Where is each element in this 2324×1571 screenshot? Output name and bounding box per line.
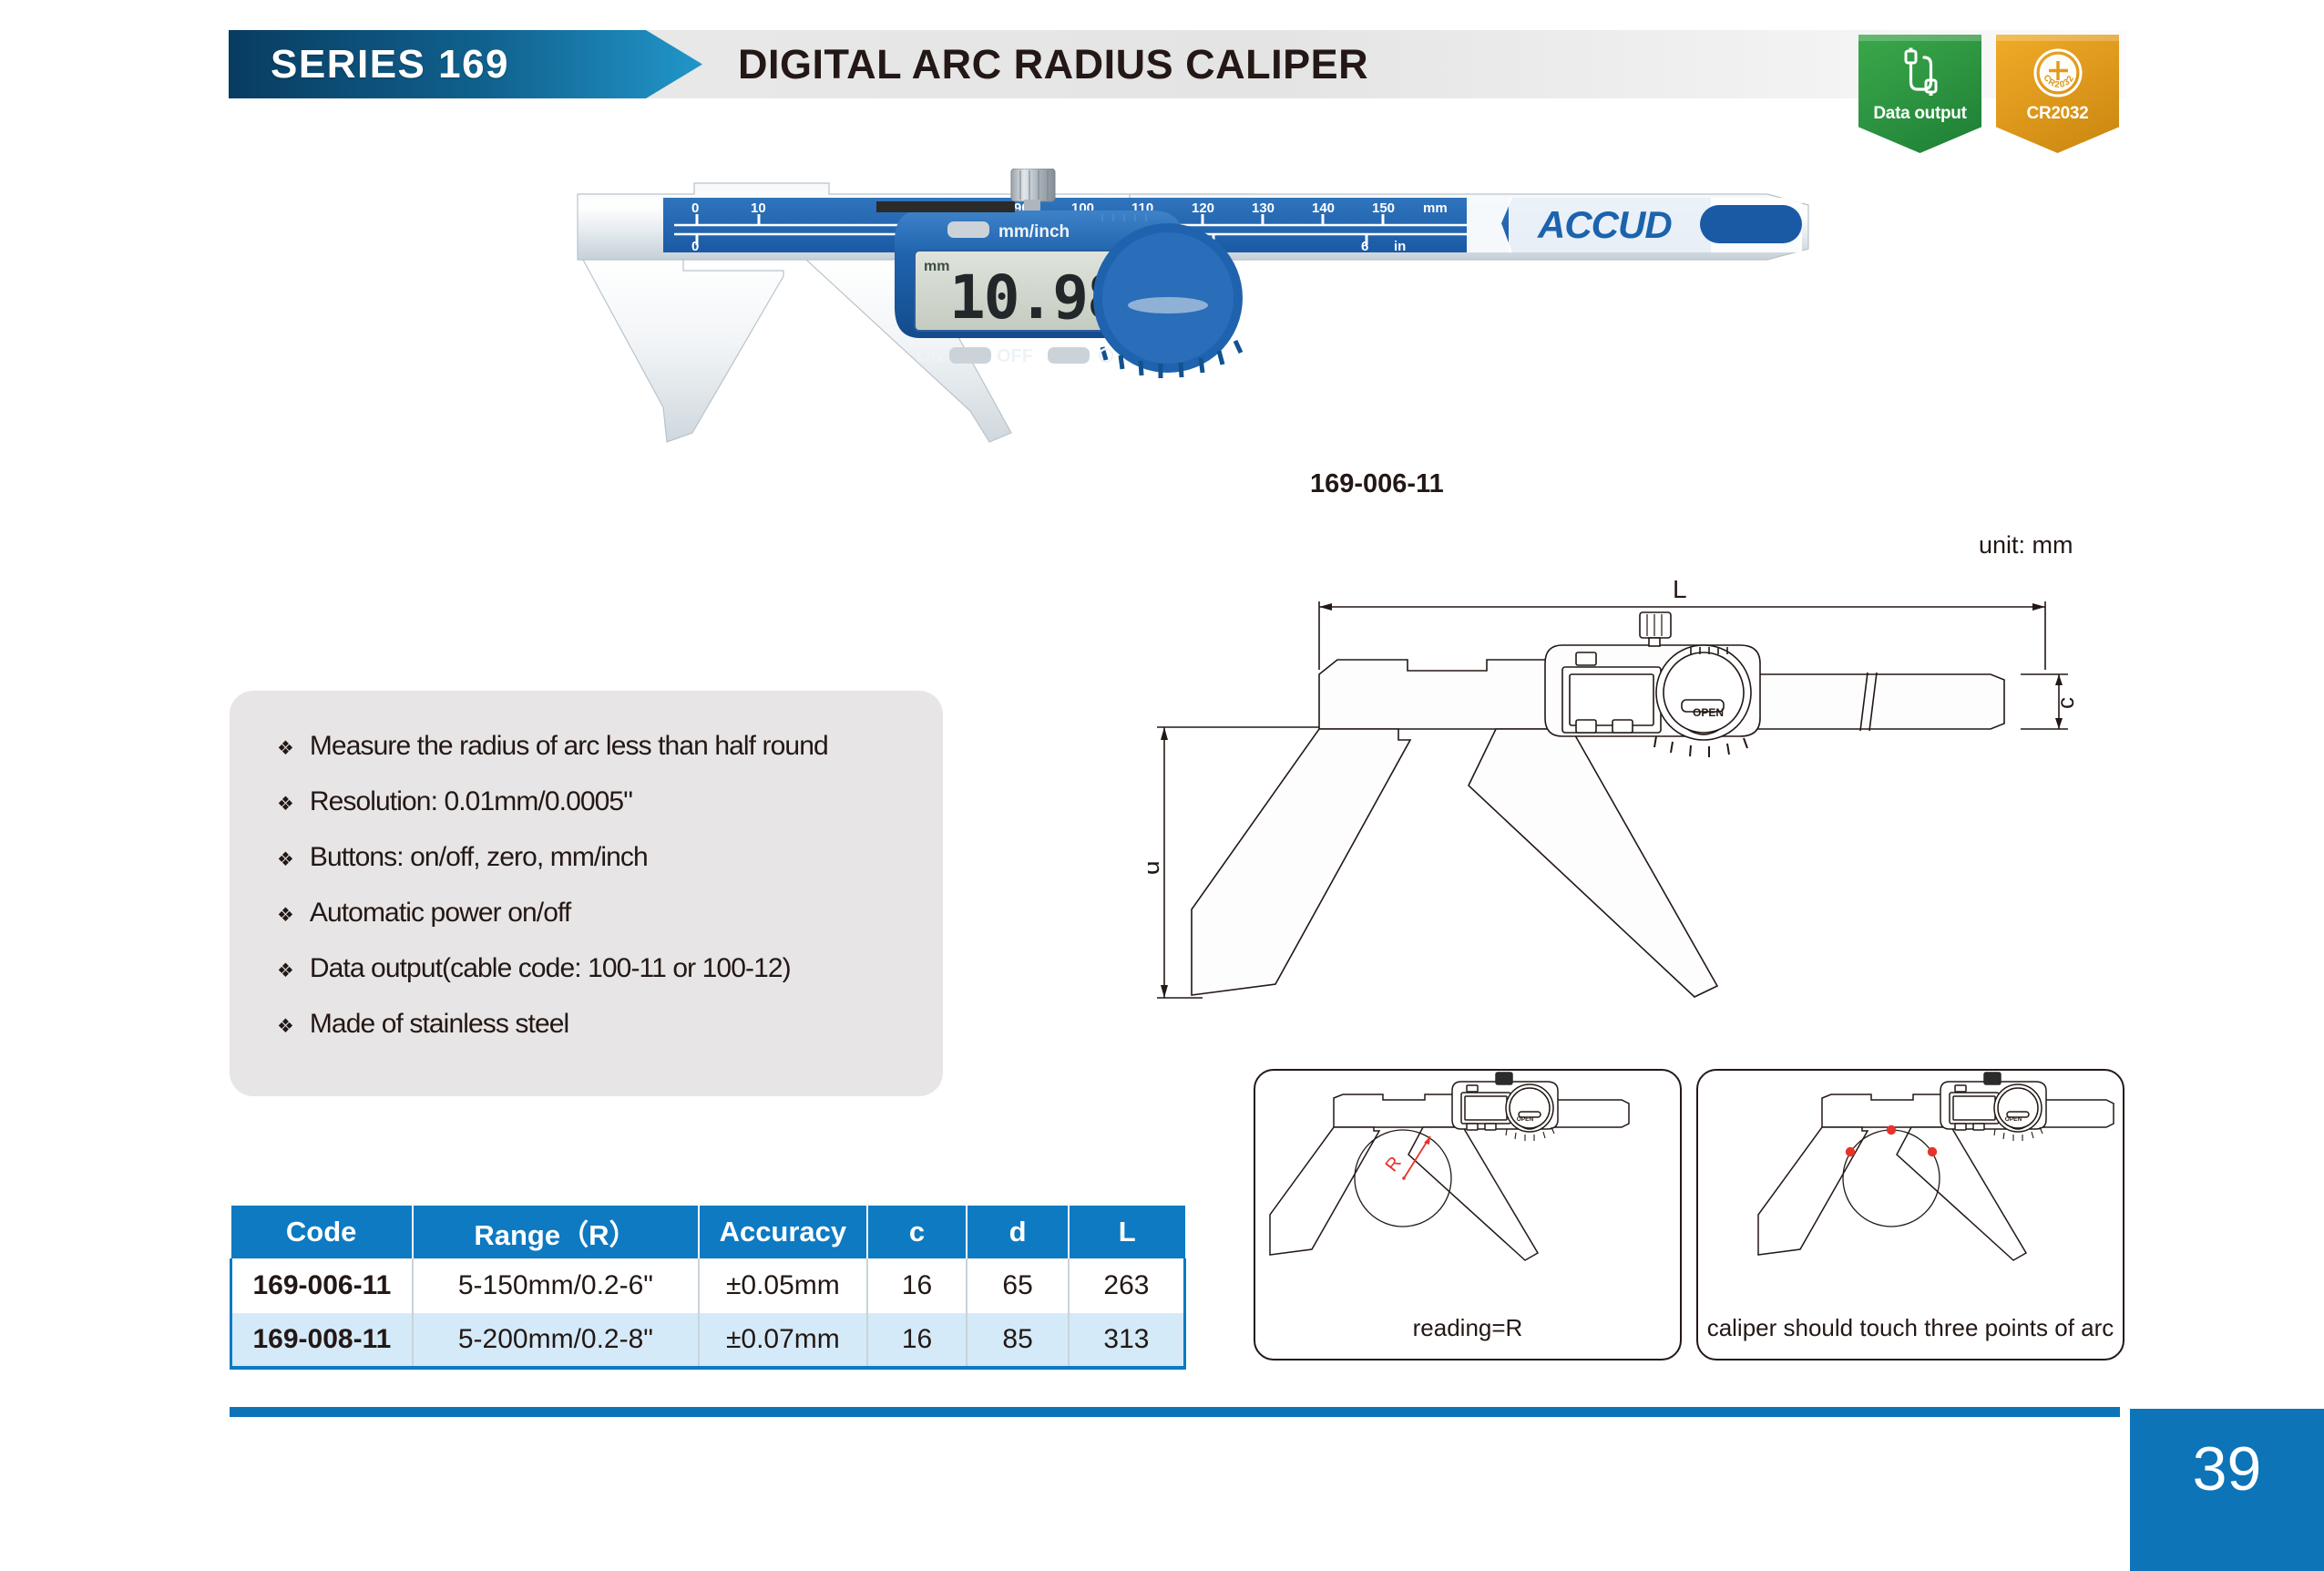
cell-l: 313 [1069,1313,1185,1368]
diamond-bullet-icon: ❖ [277,850,294,869]
svg-text:mm/inch: mm/inch [998,222,1070,241]
coin-battery-icon: CR2032 [2031,46,2085,102]
svg-text:130: 130 [1252,200,1275,216]
technical-drawing: OPEN L c d [1148,547,2132,1021]
feature-item: ❖ Measure the radius of arc less than ha… [277,731,943,762]
badge-data-output: Data output [1858,35,1981,153]
table-header-row: Code Range（R） Accuracy c d L [231,1206,1185,1258]
product-code-label: 169-006-11 [1310,469,1444,499]
example-caption: reading=R [1255,1314,1680,1342]
table-row[interactable]: 169-008-11 5-200mm/0.2-8" ±0.07mm 16 85 … [231,1313,1185,1368]
example-three-points: OPEN caliper should touch three points o… [1696,1069,2124,1361]
example-reading-r: OPEN R reading=R [1254,1069,1682,1361]
series-label: SERIES 169 [229,42,509,87]
svg-text:6: 6 [1361,239,1368,254]
dimension-label-d: d [1148,860,1164,875]
cell-c: 16 [867,1258,967,1313]
feature-item: ❖ Made of stainless steel [277,1009,943,1040]
specification-table: Code Range（R） Accuracy c d L 169-006-11 … [230,1206,1186,1370]
features-panel: ❖ Measure the radius of arc less than ha… [230,691,943,1096]
cell-c: 16 [867,1313,967,1368]
badge-label: Data output [1873,104,1966,124]
column-header-d: d [967,1206,1069,1258]
svg-text:0: 0 [691,239,699,254]
table-row[interactable]: 169-006-11 5-150mm/0.2-6" ±0.05mm 16 65 … [231,1258,1185,1313]
page-number-box: 39 [2130,1409,2324,1571]
badge-top-strip [1858,35,1981,41]
cell-d: 65 [967,1258,1069,1313]
column-header-code: Code [231,1206,413,1258]
svg-text:140: 140 [1312,200,1335,216]
svg-text:ON: ON [916,346,944,366]
badge-label: CR2032 [2027,104,2089,124]
footer-divider [230,1407,2120,1417]
feature-text: Buttons: on/off, zero, mm/inch [310,842,648,873]
cell-code: 169-008-11 [231,1313,413,1368]
cell-d: 85 [967,1313,1069,1368]
svg-text:ACCUD: ACCUD [1537,203,1672,246]
series-tag: SERIES 169 [229,30,702,98]
svg-text:OPEN: OPEN [2005,1116,2022,1123]
dimension-label-c: c [2052,697,2079,709]
svg-text:in: in [1394,239,1406,254]
dimension-label-L: L [1673,575,1687,603]
feature-badges: Data output CR2032 CR2032 [1858,35,2119,153]
feature-item: ❖ Data output(cable code: 100-11 or 100-… [277,953,943,984]
diamond-bullet-icon: ❖ [277,739,294,758]
svg-text:120: 120 [1192,200,1214,216]
diamond-bullet-icon: ❖ [277,1017,294,1036]
page-number: 39 [2193,1433,2262,1546]
page-title: DIGITAL ARC RADIUS CALIPER [738,30,1368,98]
cell-accuracy: ±0.07mm [699,1313,867,1368]
feature-item: ❖ Automatic power on/off [277,898,943,929]
usage-examples: OPEN R reading=R [1254,1069,2124,1361]
catalog-page: SERIES 169 DIGITAL ARC RADIUS CALIPER Da… [0,0,2324,1571]
svg-text:OPEN: OPEN [1517,1116,1534,1123]
svg-text:mm: mm [1423,200,1448,216]
svg-text:mm: mm [924,259,949,274]
svg-text:0: 0 [691,200,699,216]
cell-accuracy: ±0.05mm [699,1258,867,1313]
badge-battery: CR2032 CR2032 [1996,35,2119,153]
feature-text: Data output(cable code: 100-11 or 100-12… [310,953,791,984]
example-caption: caliper should touch three points of arc [1698,1314,2123,1342]
svg-text:OFF: OFF [997,346,1033,366]
usb-cable-icon [1893,46,1948,102]
feature-text: Made of stainless steel [310,1009,568,1040]
cell-range: 5-150mm/0.2-6" [413,1258,699,1313]
column-header-l: L [1069,1206,1185,1258]
cell-code: 169-006-11 [231,1258,413,1313]
cell-range: 5-200mm/0.2-8" [413,1313,699,1368]
column-header-c: c [867,1206,967,1258]
column-header-accuracy: Accuracy [699,1206,867,1258]
diamond-bullet-icon: ❖ [277,961,294,981]
cell-l: 263 [1069,1258,1185,1313]
svg-text:10: 10 [751,200,766,216]
badge-top-strip [1996,35,2119,41]
column-header-range: Range（R） [413,1206,699,1258]
feature-text: Automatic power on/off [310,898,570,929]
feature-text: Measure the radius of arc less than half… [310,731,828,762]
feature-item: ❖ Buttons: on/off, zero, mm/inch [277,842,943,873]
dial-open-label: OPEN [1693,706,1724,719]
feature-item: ❖ Resolution: 0.01mm/0.0005" [277,786,943,817]
svg-text:150: 150 [1372,200,1395,216]
radius-annotation: R [1382,1153,1406,1176]
diamond-bullet-icon: ❖ [277,906,294,925]
diamond-bullet-icon: ❖ [277,795,294,814]
feature-text: Resolution: 0.01mm/0.0005" [310,786,632,817]
